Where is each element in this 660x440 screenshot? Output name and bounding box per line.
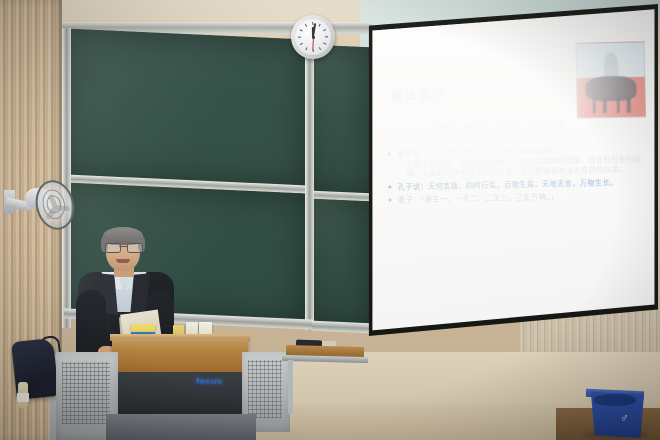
bullet-text: 孔子说：天何言哉，四时行焉，百物生焉，天地无言，万物生长。	[397, 178, 617, 191]
bin-litter-icon: ♂	[620, 412, 626, 426]
side-desk-leg	[288, 360, 293, 414]
wall-fan	[6, 172, 68, 238]
slide-bullet-list: 老子说：「人法地，地法天，天法道，道法自然。」 人有人的规律，地有地的规律，天国…	[386, 145, 645, 209]
mouth	[116, 259, 130, 263]
lectern-logo: focus	[196, 377, 223, 386]
slide: 道法自然 人法地，地法天，天法道，道法自然 老子说：「人法地，地法天，天法道，道…	[378, 25, 652, 316]
bottle-label	[17, 393, 29, 402]
blackboard-panel-top-right	[310, 45, 372, 196]
slide-subtitle: 人法地，地法天，天法道，道法自然	[428, 120, 595, 134]
blackboard-panel-top-left	[66, 29, 306, 190]
slide-title: 道法自然	[390, 83, 568, 104]
list-item: 老子：「道生一，一生二，二生三，三生万物。」	[386, 190, 644, 205]
projection-screen: 道法自然 人法地，地法天，天法道，道法自然 老子说：「人法地，地法天，天法道，道…	[366, 4, 658, 336]
lectern-base	[106, 414, 256, 440]
clock-second-hand	[312, 37, 314, 51]
blackboard-chalk-tray-right	[312, 321, 372, 334]
clock-face	[294, 18, 332, 56]
laozi-riding-ox-image	[575, 42, 646, 120]
screen-surface: 道法自然 人法地，地法天，天法道，道法自然 老子说：「人法地，地法天，天法道，道…	[366, 4, 658, 336]
clock-center-pin	[311, 35, 314, 38]
bin-opening	[594, 394, 636, 406]
glasses	[105, 243, 141, 251]
classroom-scene: 道法自然 人法地，地法天，天法道，道法自然 老子说：「人法地，地法天，天法道，道…	[0, 0, 660, 440]
bullet-subtext: 人有人的规律，地有地的规律，天国也有治国的规律，社会有社会的规律，人地的规律将效…	[397, 154, 644, 179]
lectern-dark-panel	[114, 372, 246, 418]
blackboard-center-rail	[305, 34, 314, 330]
list-item: 老子说：「人法地，地法天，天法道，道法自然。」 人有人的规律，地有地的规律，天国…	[386, 145, 644, 180]
bullet-text: 老子：「道生一，一生二，二生三，三生万物。」	[397, 192, 557, 204]
blackboard-panel-bottom-right	[310, 199, 372, 328]
